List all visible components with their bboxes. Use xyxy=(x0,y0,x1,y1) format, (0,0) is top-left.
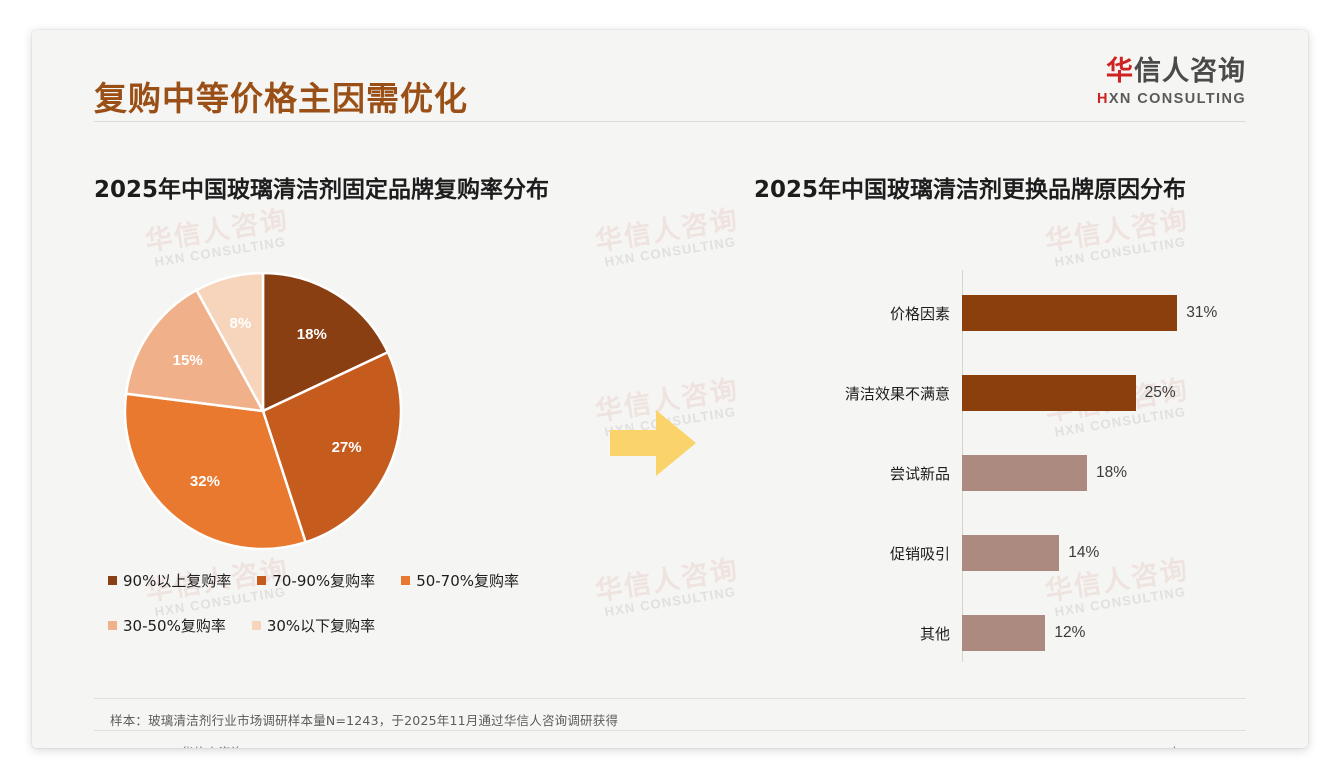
legend-label: 30-50%复购率 xyxy=(123,615,226,636)
bar-category-label: 清洁效果不满意 xyxy=(754,383,962,404)
legend-label: 30%以下复购率 xyxy=(267,615,375,636)
legend-swatch-icon xyxy=(108,621,117,630)
legend-label: 50-70%复购率 xyxy=(416,570,519,591)
copyright-text: ©2026.1 HXR华信人咨询 xyxy=(94,742,243,748)
bar-fill[interactable] xyxy=(962,295,1177,331)
pie-chart-panel: 2025年中国玻璃清洁剂固定品牌复购率分布 18%27%32%15%8% 90%… xyxy=(94,170,654,670)
bar-chart-panel: 2025年中国玻璃清洁剂更换品牌原因分布 价格因素31%清洁效果不满意25%尝试… xyxy=(754,170,1254,670)
legend-swatch-icon xyxy=(401,576,410,585)
pie-slice-label: 8% xyxy=(230,315,252,332)
pie-chart-legend: 90%以上复购率70-90%复购率50-70%复购率30-50%复购率30%以下… xyxy=(108,570,648,660)
bar-track: 12% xyxy=(962,615,1254,651)
slide-header: 复购中等价格主因需优化 华信人咨询 HXN CONSULTING xyxy=(32,30,1308,122)
pie-chart-svg: 18%27%32%15%8% xyxy=(122,270,404,552)
bar-chart: 价格因素31%清洁效果不满意25%尝试新品18%促销吸引14%其他12% xyxy=(754,270,1254,670)
brand-logo: 华信人咨询 HXN CONSULTING xyxy=(1097,58,1246,107)
arrow-right-icon xyxy=(610,406,696,480)
bar-row: 其他12% xyxy=(754,615,1254,651)
pie-slice-label: 15% xyxy=(173,352,203,369)
sample-footnote: 样本：玻璃清洁剂行业市场调研样本量N=1243，于2025年11月通过华信人咨询… xyxy=(110,710,618,729)
bar-value-label: 14% xyxy=(1068,544,1099,562)
legend-item[interactable]: 90%以上复购率 xyxy=(108,570,231,591)
legend-label: 90%以上复购率 xyxy=(123,570,231,591)
legend-item[interactable]: 50-70%复购率 xyxy=(401,570,519,591)
pie-slice-label: 18% xyxy=(297,326,327,343)
logo-english-text: HXN CONSULTING xyxy=(1097,92,1246,107)
footnote-divider xyxy=(94,698,1246,699)
bar-category-label: 价格因素 xyxy=(754,303,962,324)
legend-row: 90%以上复购率70-90%复购率50-70%复购率 xyxy=(108,570,648,591)
website-link[interactable]: www.hxrcon.com xyxy=(1139,744,1246,748)
bar-fill[interactable] xyxy=(962,535,1059,571)
page-title: 复购中等价格主因需优化 xyxy=(94,72,468,120)
pie-slice-label: 27% xyxy=(332,439,362,456)
bar-category-label: 其他 xyxy=(754,623,962,644)
slide-footer: ©2026.1 HXR华信人咨询 www.hxrcon.com xyxy=(94,742,1246,748)
pie-chart: 18%27%32%15%8% xyxy=(122,270,404,552)
legend-item[interactable]: 30-50%复购率 xyxy=(108,615,226,636)
bar-value-label: 18% xyxy=(1096,464,1127,482)
bar-track: 14% xyxy=(962,535,1254,571)
logo-en-rest: XN CONSULTING xyxy=(1109,91,1246,107)
bar-value-label: 12% xyxy=(1054,624,1085,642)
legend-swatch-icon xyxy=(257,576,266,585)
bar-fill[interactable] xyxy=(962,375,1136,411)
legend-swatch-icon xyxy=(252,621,261,630)
bar-row: 清洁效果不满意25% xyxy=(754,375,1254,411)
logo-chinese-text: 华信人咨询 xyxy=(1097,58,1246,85)
bar-row: 促销吸引14% xyxy=(754,535,1254,571)
slide-card: 华信人咨询HXN CONSULTING华信人咨询HXN CONSULTING华信… xyxy=(32,30,1308,748)
legend-item[interactable]: 70-90%复购率 xyxy=(257,570,375,591)
bar-track: 18% xyxy=(962,455,1254,491)
bar-category-label: 促销吸引 xyxy=(754,543,962,564)
pie-slice-label: 32% xyxy=(190,473,220,490)
logo-en-highlight: H xyxy=(1097,91,1109,107)
bar-row: 价格因素31% xyxy=(754,295,1254,331)
legend-swatch-icon xyxy=(108,576,117,585)
bar-fill[interactable] xyxy=(962,615,1045,651)
bar-chart-title: 2025年中国玻璃清洁剂更换品牌原因分布 xyxy=(754,170,1254,204)
logo-cn-rest: 信人咨询 xyxy=(1134,56,1246,87)
legend-row: 30-50%复购率30%以下复购率 xyxy=(108,615,648,636)
bar-row: 尝试新品18% xyxy=(754,455,1254,491)
bar-value-label: 25% xyxy=(1145,384,1176,402)
logo-cn-highlight: 华 xyxy=(1106,56,1134,87)
footer-divider xyxy=(94,730,1246,731)
bar-category-label: 尝试新品 xyxy=(754,463,962,484)
legend-item[interactable]: 30%以下复购率 xyxy=(252,615,375,636)
bar-fill[interactable] xyxy=(962,455,1087,491)
bar-track: 31% xyxy=(962,295,1254,331)
bar-track: 25% xyxy=(962,375,1254,411)
header-divider xyxy=(94,121,1246,122)
bar-value-label: 31% xyxy=(1186,304,1217,322)
pie-chart-title: 2025年中国玻璃清洁剂固定品牌复购率分布 xyxy=(94,170,654,204)
legend-label: 70-90%复购率 xyxy=(272,570,375,591)
